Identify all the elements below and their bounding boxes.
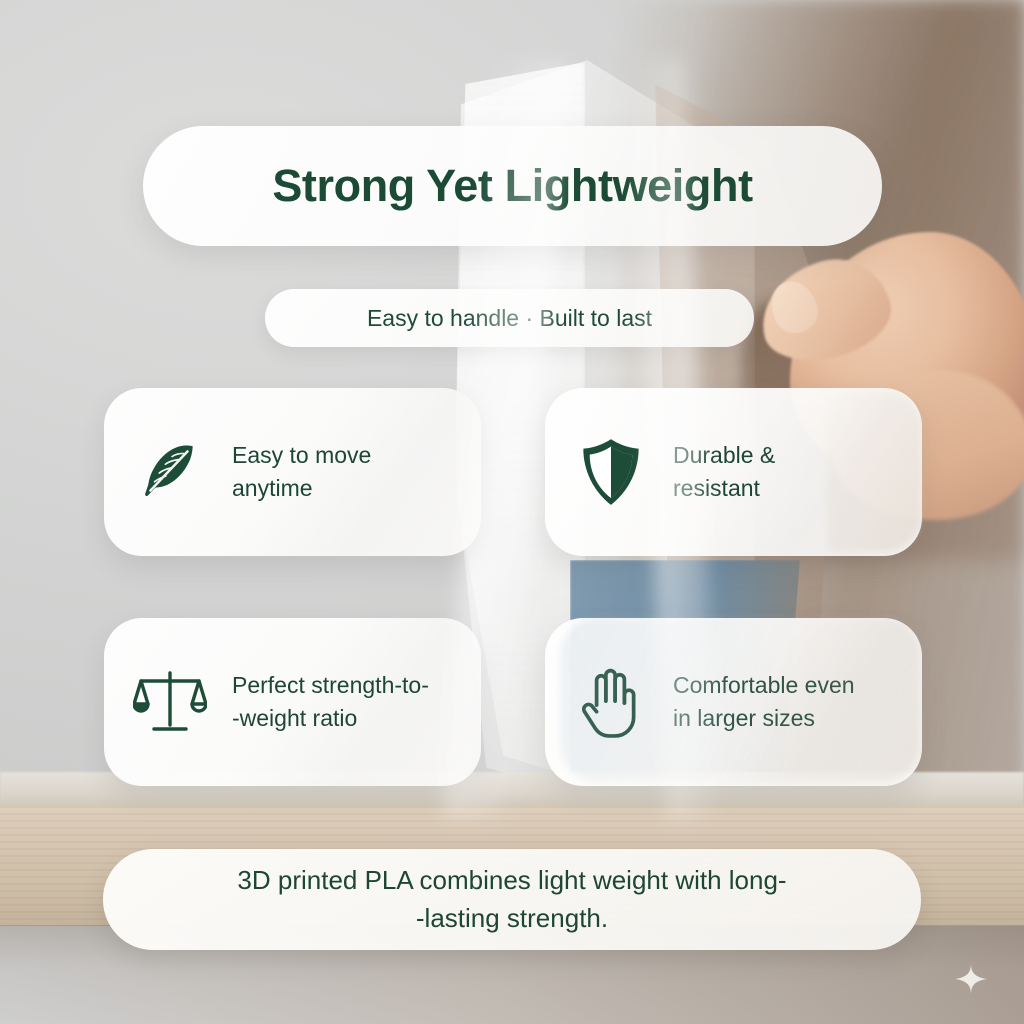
- feature-card-comfortable[interactable]: Comfortable even in larger sizes: [545, 618, 922, 786]
- feature-label-line2: in larger sizes: [673, 705, 815, 731]
- feature-label: Easy to move anytime: [232, 439, 371, 505]
- feature-label-line1: Comfortable even: [673, 672, 855, 698]
- feature-card-easy-to-move[interactable]: Easy to move anytime: [104, 388, 481, 556]
- sparkle-icon: [954, 962, 988, 996]
- footer-caption-line1: 3D printed PLA combines light weight wit…: [237, 865, 786, 895]
- feature-card-grid: Easy to move anytime Durable & resistant: [104, 388, 922, 786]
- hero-title-pill: Strong Yet Lightweight: [143, 126, 882, 246]
- feature-label-line1: Perfect strength-to-: [232, 672, 429, 698]
- page-title: Strong Yet Lightweight: [272, 160, 752, 212]
- feature-card-durable[interactable]: Durable & resistant: [545, 388, 922, 556]
- feature-label-line1: Durable &: [673, 442, 775, 468]
- shield-icon: [573, 434, 649, 510]
- footer-caption: 3D printed PLA combines light weight wit…: [237, 862, 786, 937]
- feature-label-line2: -weight ratio: [232, 705, 357, 731]
- hero-subtitle-pill: Easy to handle · Built to last: [265, 289, 754, 347]
- footer-caption-line2: -lasting strength.: [416, 903, 608, 933]
- feature-card-strength-ratio[interactable]: Perfect strength-to- -weight ratio: [104, 618, 481, 786]
- feature-label-line2: anytime: [232, 475, 313, 501]
- feature-label: Perfect strength-to- -weight ratio: [232, 669, 429, 735]
- hand-icon: [573, 664, 649, 740]
- footer-caption-pill: 3D printed PLA combines light weight wit…: [103, 849, 921, 950]
- feature-label-line2: resistant: [673, 475, 760, 501]
- scene: Strong Yet Lightweight Easy to handle · …: [0, 0, 1024, 1024]
- overlay-ui: Strong Yet Lightweight Easy to handle · …: [0, 0, 1024, 1024]
- feature-label-line1: Easy to move: [232, 442, 371, 468]
- feature-label: Comfortable even in larger sizes: [673, 669, 855, 735]
- balance-scale-icon: [132, 664, 208, 740]
- feature-label: Durable & resistant: [673, 439, 775, 505]
- page-subtitle: Easy to handle · Built to last: [367, 305, 652, 332]
- feather-icon: [132, 434, 208, 510]
